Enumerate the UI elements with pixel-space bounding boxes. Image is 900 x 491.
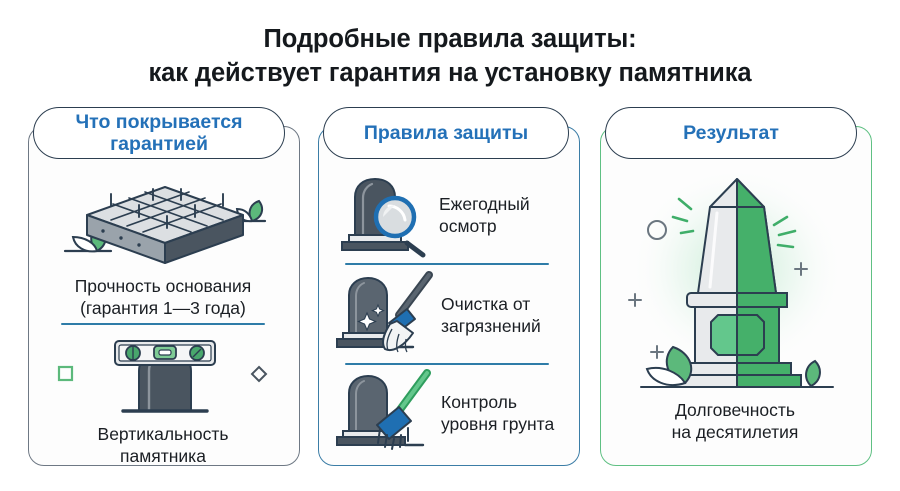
caption-durability-decades: Долговечность на десятилетия — [607, 399, 863, 443]
card-coverage-header-line-2: гарантией — [110, 133, 208, 155]
caption-cleaning-line-1: Очистка от — [441, 294, 530, 314]
card-coverage-divider — [61, 323, 265, 325]
caption-annual-inspection-line-2: осмотр — [439, 216, 497, 236]
leaf-right-decor — [806, 361, 820, 386]
card-rules-header: Правила защиты — [323, 107, 569, 159]
card-result: Результат — [600, 126, 872, 466]
spirit-level-tool — [115, 341, 215, 365]
infographic-page: Подробные правила защиты: как действует … — [0, 0, 900, 491]
card-result-header: Результат — [605, 107, 857, 159]
card-result-header-label: Результат — [683, 122, 779, 144]
caption-ground-level-control: Контроль уровня грунта — [441, 391, 575, 435]
card-rules-divider-1 — [345, 263, 549, 265]
page-title-line-2: как действует гарантия на установку памя… — [0, 56, 900, 90]
icon-green-obelisk-monument — [611, 169, 861, 391]
caption-foundation-strength: Прочность основания (гарантия 1—3 года) — [35, 275, 291, 319]
broom-tool — [383, 275, 429, 352]
page-title-line-1: Подробные правила защиты: — [263, 25, 636, 53]
caption-cleaning: Очистка от загрязнений — [441, 293, 575, 337]
card-coverage-header: Что покрывается гарантией — [33, 107, 285, 159]
caption-foundation-strength-line-1: Прочность основания — [75, 276, 252, 296]
caption-ground-level-control-line-1: Контроль — [441, 392, 517, 412]
icon-headstone-rake — [333, 371, 437, 453]
caption-durability-decades-line-2: на десятилетия — [672, 422, 799, 442]
caption-monument-verticality: Вертикальность памятника — [35, 423, 291, 467]
caption-monument-verticality-line-1: Вертикальность — [98, 424, 229, 444]
icon-spirit-level-on-headstone — [53, 333, 277, 419]
caption-foundation-strength-line-2: (гарантия 1—3 года) — [80, 298, 246, 318]
icon-concrete-foundation-slab — [53, 179, 277, 271]
page-title: Подробные правила защиты: как действует … — [0, 22, 900, 90]
square-decor-left — [59, 367, 72, 380]
caption-monument-verticality-line-2: памятника — [120, 446, 206, 466]
caption-annual-inspection: Ежегодный осмотр — [439, 193, 569, 237]
caption-ground-level-control-line-2: уровня грунта — [441, 414, 554, 434]
caption-durability-decades-line-1: Долговечность — [675, 400, 795, 420]
card-rules-header-label: Правила защиты — [364, 122, 528, 144]
card-coverage: Что покрывается гарантией — [28, 126, 300, 466]
card-coverage-header-line-1: Что покрывается — [75, 111, 242, 133]
icon-headstone-magnifier — [333, 173, 435, 255]
icon-headstone-broom — [333, 273, 437, 355]
diamond-decor-right — [252, 367, 266, 381]
caption-annual-inspection-line-1: Ежегодный — [439, 194, 530, 214]
card-rules: Правила защиты Ежегодный — [318, 126, 580, 466]
caption-cleaning-line-2: загрязнений — [441, 316, 541, 336]
card-rules-divider-2 — [345, 363, 549, 365]
